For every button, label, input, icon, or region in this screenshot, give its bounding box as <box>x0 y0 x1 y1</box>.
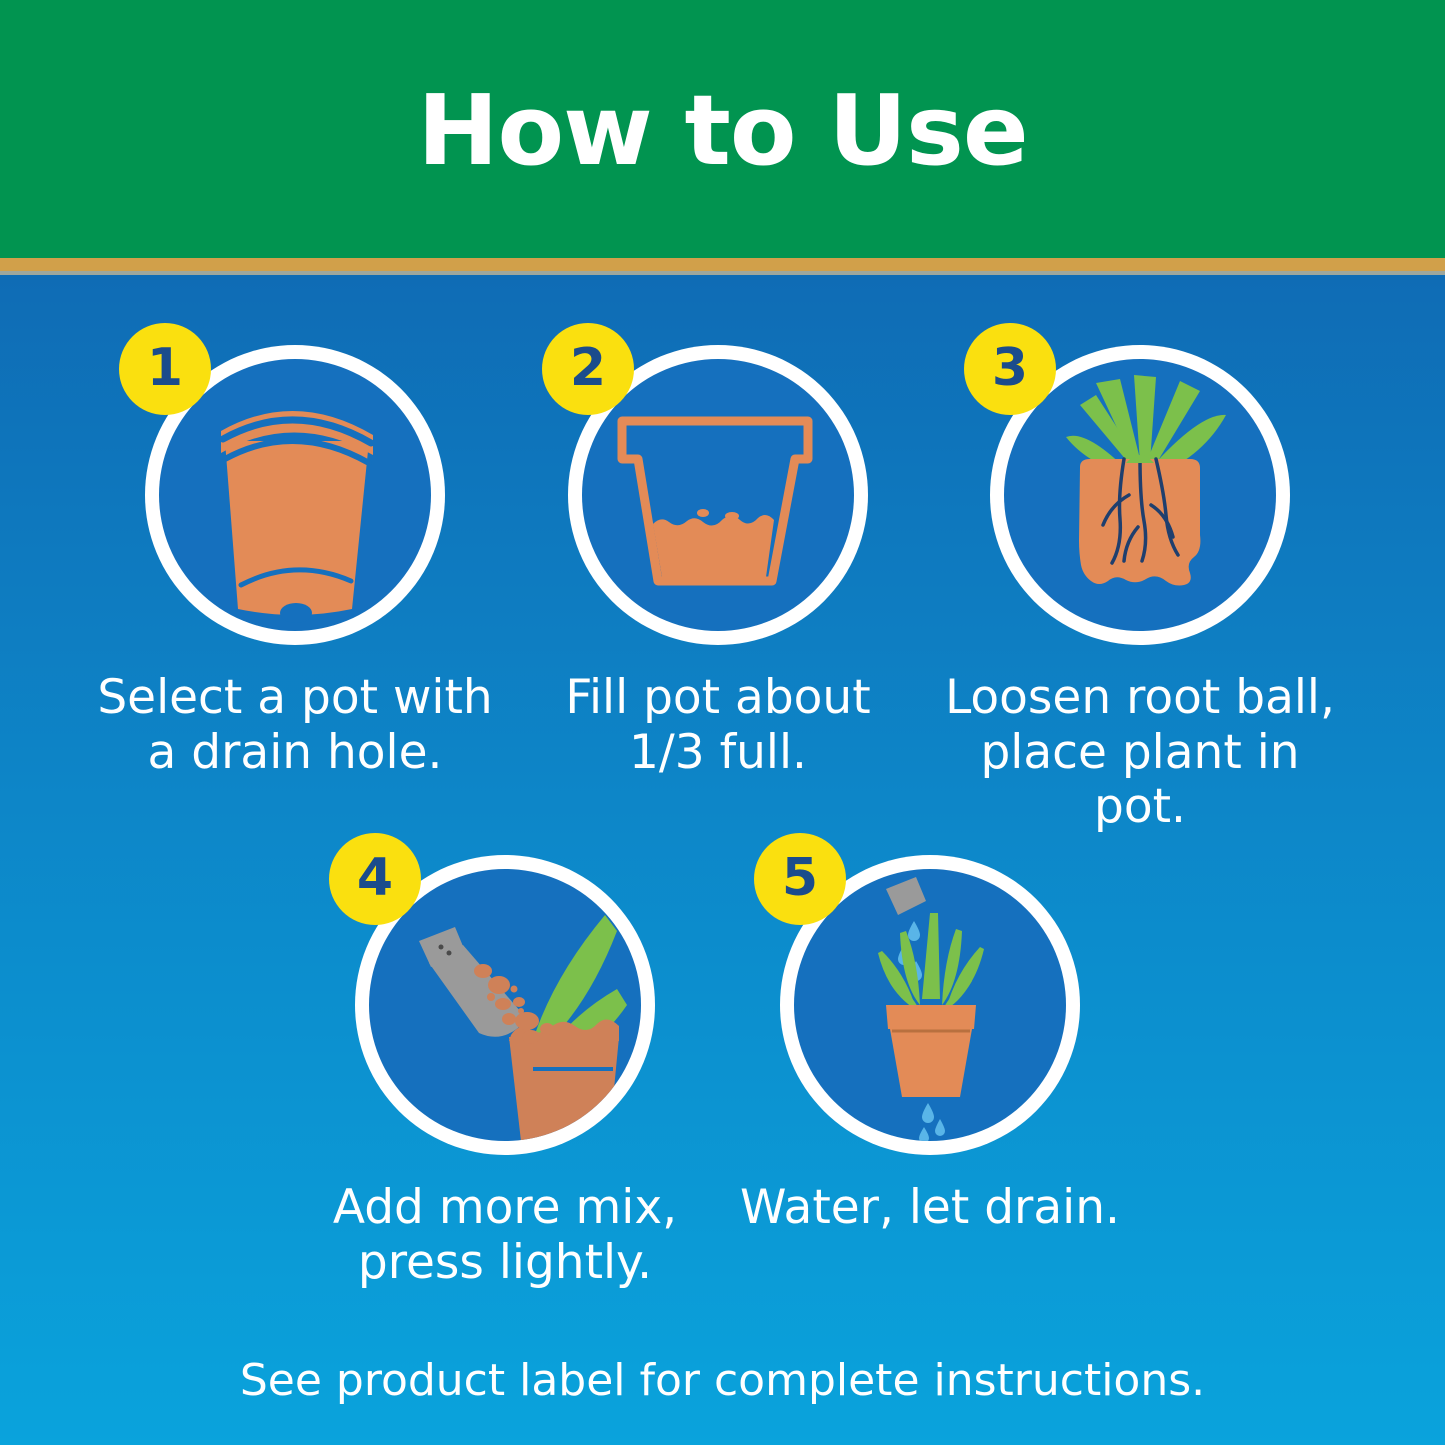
pot-with-drain-hole-icon <box>159 359 431 631</box>
footer-note: See product label for complete instructi… <box>0 1355 1445 1406</box>
step-number: 4 <box>357 852 393 904</box>
circle-inner <box>159 359 431 631</box>
step-number: 2 <box>570 342 606 394</box>
step-item-4: 4 Add more mix, press lightly. <box>295 855 715 1290</box>
step-4-number-badge: 4 <box>329 833 421 925</box>
circle-inner <box>582 359 854 631</box>
step-5-illustration-circle: 5 <box>780 855 1080 1155</box>
step-3-number-badge: 3 <box>964 323 1056 415</box>
step-item-1: 1 Select a pot with a drain hole. <box>85 345 505 780</box>
step-2-number-badge: 2 <box>542 323 634 415</box>
step-number: 3 <box>992 342 1028 394</box>
circle-inner <box>369 869 641 1141</box>
step-3-caption: Loosen root ball, place plant in pot. <box>930 671 1350 835</box>
trowel-adding-mix-icon <box>369 869 641 1141</box>
circle-inner <box>794 869 1066 1141</box>
step-item-2: 2 Fill pot about 1/3 full. <box>508 345 928 780</box>
step-2-illustration-circle: 2 <box>568 345 868 645</box>
circle-inner <box>1004 359 1276 631</box>
step-5-number-badge: 5 <box>754 833 846 925</box>
step-number: 5 <box>782 852 818 904</box>
gold-divider-rule <box>0 258 1445 271</box>
step-5-caption: Water, let drain. <box>720 1181 1140 1236</box>
step-3-illustration-circle: 3 <box>990 345 1290 645</box>
step-item-3: 3 Loosen root ball, place plant in pot. <box>930 345 1350 835</box>
step-4-illustration-circle: 4 <box>355 855 655 1155</box>
step-1-number-badge: 1 <box>119 323 211 415</box>
step-2-caption: Fill pot about 1/3 full. <box>508 671 928 780</box>
step-1-caption: Select a pot with a drain hole. <box>85 671 505 780</box>
step-number: 1 <box>147 342 183 394</box>
step-4-caption: Add more mix, press lightly. <box>295 1181 715 1290</box>
page-title: How to Use <box>417 82 1027 179</box>
step-item-5: 5 Water, let drain. <box>720 855 1140 1236</box>
watering-can-potted-plant-icon <box>794 869 1066 1141</box>
pot-one-third-filled-icon <box>582 359 854 631</box>
root-ball-plant-icon <box>1004 359 1276 631</box>
header-banner: How to Use <box>0 0 1445 258</box>
how-to-use-infographic: How to Use <box>0 0 1445 1445</box>
step-1-illustration-circle: 1 <box>145 345 445 645</box>
